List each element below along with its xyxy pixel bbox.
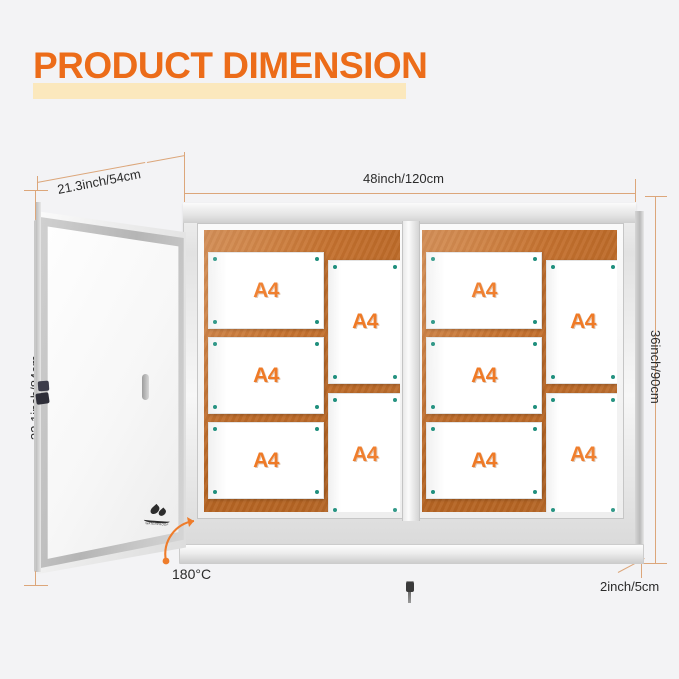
right-pane: A4 A4 A4 [415, 223, 624, 519]
pushpin-icon [533, 405, 537, 409]
door-handle[interactable] [142, 374, 149, 400]
list-item[interactable]: A4 [208, 252, 324, 329]
pushpin-icon [213, 257, 217, 261]
pushpin-icon [431, 257, 435, 261]
pushpin-icon [213, 427, 217, 431]
pushpin-icon [213, 405, 217, 409]
pushpin-icon [393, 508, 397, 512]
list-item[interactable]: A4 [328, 260, 400, 384]
pushpin-icon [315, 257, 319, 261]
diagram-canvas: PRODUCT DIMENSION 21.3inch/54cm 48inch/1… [0, 0, 679, 679]
sheet-label: A4 [253, 449, 279, 473]
pushpin-icon [431, 320, 435, 324]
pushpin-icon [611, 398, 615, 402]
sheet-label: A4 [570, 443, 596, 467]
pushpin-icon [213, 490, 217, 494]
left-pane-corkboard: A4 A4 A4 [204, 230, 400, 512]
cabinet-lock-icon[interactable] [405, 581, 415, 603]
list-item[interactable]: A4 [546, 393, 617, 512]
display-cabinet: A4 A4 A4 [183, 203, 636, 553]
pushpin-icon [551, 375, 555, 379]
sheet-label: A4 [253, 364, 279, 388]
dimension-label-door-swing: 180°C [172, 566, 211, 582]
pushpin-icon [333, 375, 337, 379]
page-title-text: PRODUCT DIMENSION [33, 44, 427, 88]
pushpin-icon [431, 427, 435, 431]
pushpin-icon [431, 342, 435, 346]
pushpin-icon [333, 508, 337, 512]
sheet-label: A4 [352, 310, 378, 334]
lock-cylinder [406, 581, 414, 592]
sheet-label: A4 [570, 310, 596, 334]
list-item[interactable]: A4 [328, 393, 400, 512]
pushpin-icon [393, 265, 397, 269]
left-pane: A4 A4 A4 [197, 223, 407, 519]
pushpin-icon [333, 265, 337, 269]
list-item[interactable]: A4 [208, 337, 324, 414]
pushpin-icon [611, 508, 615, 512]
door-lock-key [35, 392, 49, 405]
page-title: PRODUCT DIMENSION [33, 44, 427, 88]
pushpin-icon [533, 320, 537, 324]
pushpin-icon [551, 265, 555, 269]
pushpin-icon [315, 427, 319, 431]
pushpin-icon [431, 490, 435, 494]
pushpin-icon [213, 320, 217, 324]
cabinet-top-rail [183, 203, 636, 223]
list-item[interactable]: A4 [208, 422, 324, 499]
dimension-label-cabinet-height: 36inch/90cm [648, 330, 663, 404]
cabinet-bottom-sill [179, 544, 644, 564]
pushpin-icon [315, 320, 319, 324]
pushpin-icon [315, 405, 319, 409]
dimension-label-cabinet-depth: 2inch/5cm [600, 579, 659, 594]
pushpin-icon [533, 427, 537, 431]
pushpin-icon [611, 375, 615, 379]
pushpin-icon [431, 405, 435, 409]
sheet-label: A4 [471, 449, 497, 473]
pushpin-icon [393, 398, 397, 402]
pushpin-icon [315, 342, 319, 346]
pushpin-icon [551, 508, 555, 512]
key-icon [408, 592, 411, 603]
door-swing-arrow-icon [160, 515, 220, 567]
pushpin-icon [315, 490, 319, 494]
pushpin-icon [213, 342, 217, 346]
pushpin-icon [533, 257, 537, 261]
list-item[interactable]: A4 [426, 252, 542, 329]
sheet-label: A4 [471, 364, 497, 388]
door-lock-cylinder [38, 381, 50, 392]
right-pane-corkboard: A4 A4 A4 [422, 230, 617, 512]
list-item[interactable]: A4 [546, 260, 617, 384]
pushpin-icon [393, 375, 397, 379]
dimension-label-width: 48inch/120cm [363, 171, 444, 186]
sheet-label: A4 [352, 443, 378, 467]
pushpin-icon [333, 398, 337, 402]
pushpin-icon [533, 342, 537, 346]
cabinet-right-edge [635, 211, 644, 559]
pushpin-icon [611, 265, 615, 269]
sheet-label: A4 [253, 279, 279, 303]
sheet-label: A4 [471, 279, 497, 303]
list-item[interactable]: A4 [426, 422, 542, 499]
pushpin-icon [551, 398, 555, 402]
door-lock-icon[interactable] [36, 381, 50, 411]
pushpin-icon [533, 490, 537, 494]
list-item[interactable]: A4 [426, 337, 542, 414]
center-mullion [402, 221, 420, 521]
